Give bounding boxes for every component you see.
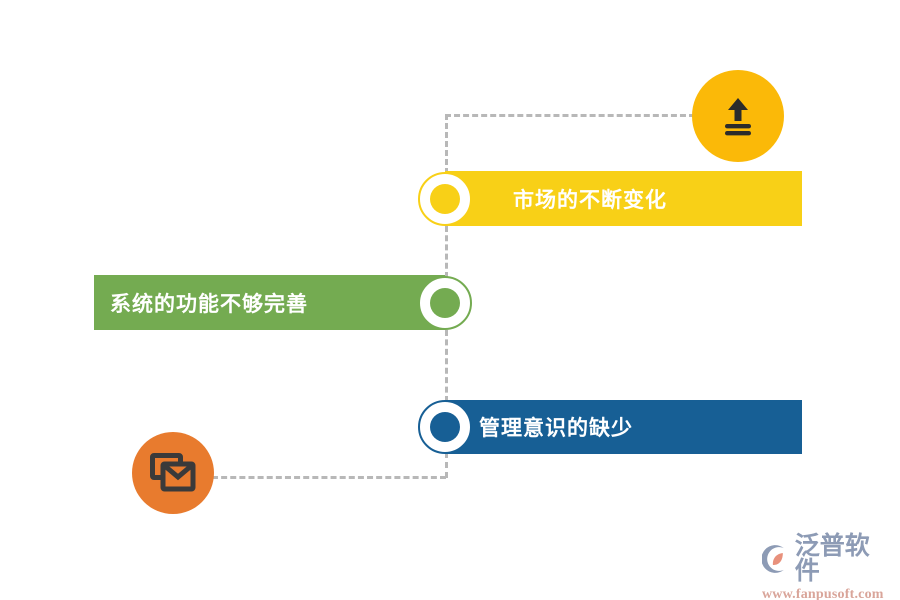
bar-label-market-change: 市场的不断变化 bbox=[513, 184, 667, 214]
infographic-canvas: 市场的不断变化 系统的功能不够完善 管理意识的缺少 泛普软件 www.fanpu… bbox=[0, 0, 900, 600]
connector-green-to-blue bbox=[445, 330, 448, 402]
watermark-url: www.fanpusoft.com bbox=[762, 587, 884, 600]
connector-upload-horizontal bbox=[445, 114, 695, 117]
bar-label-system-function: 系统的功能不够完善 bbox=[110, 288, 308, 318]
bar-label-management-awareness: 管理意识的缺少 bbox=[479, 412, 633, 442]
connector-mail-horizontal bbox=[212, 476, 446, 479]
watermark: 泛普软件 www.fanpusoft.com bbox=[762, 534, 894, 600]
connector-upload-vertical bbox=[445, 114, 448, 174]
node-core-green bbox=[430, 288, 460, 318]
fanpu-logo-icon bbox=[762, 545, 792, 573]
bar-system-function[interactable]: 系统的功能不够完善 bbox=[94, 275, 445, 330]
connector-yellow-to-green bbox=[445, 226, 448, 278]
node-marker-market-change[interactable] bbox=[418, 172, 472, 226]
bar-market-change[interactable]: 市场的不断变化 bbox=[445, 171, 802, 226]
mail-icon-circle[interactable] bbox=[132, 432, 214, 514]
node-marker-system-function[interactable] bbox=[418, 276, 472, 330]
bar-management-awareness[interactable]: 管理意识的缺少 bbox=[445, 400, 802, 454]
upload-icon-circle[interactable] bbox=[692, 70, 784, 162]
node-core-blue bbox=[430, 412, 460, 442]
connector-blue-vertical bbox=[445, 452, 448, 478]
watermark-brand-text: 泛普软件 bbox=[795, 534, 894, 584]
upload-icon bbox=[714, 92, 762, 140]
node-core-yellow bbox=[430, 184, 460, 214]
watermark-brand-row: 泛普软件 bbox=[762, 534, 894, 584]
node-marker-management-awareness[interactable] bbox=[418, 400, 472, 454]
mail-stack-icon bbox=[150, 453, 196, 493]
